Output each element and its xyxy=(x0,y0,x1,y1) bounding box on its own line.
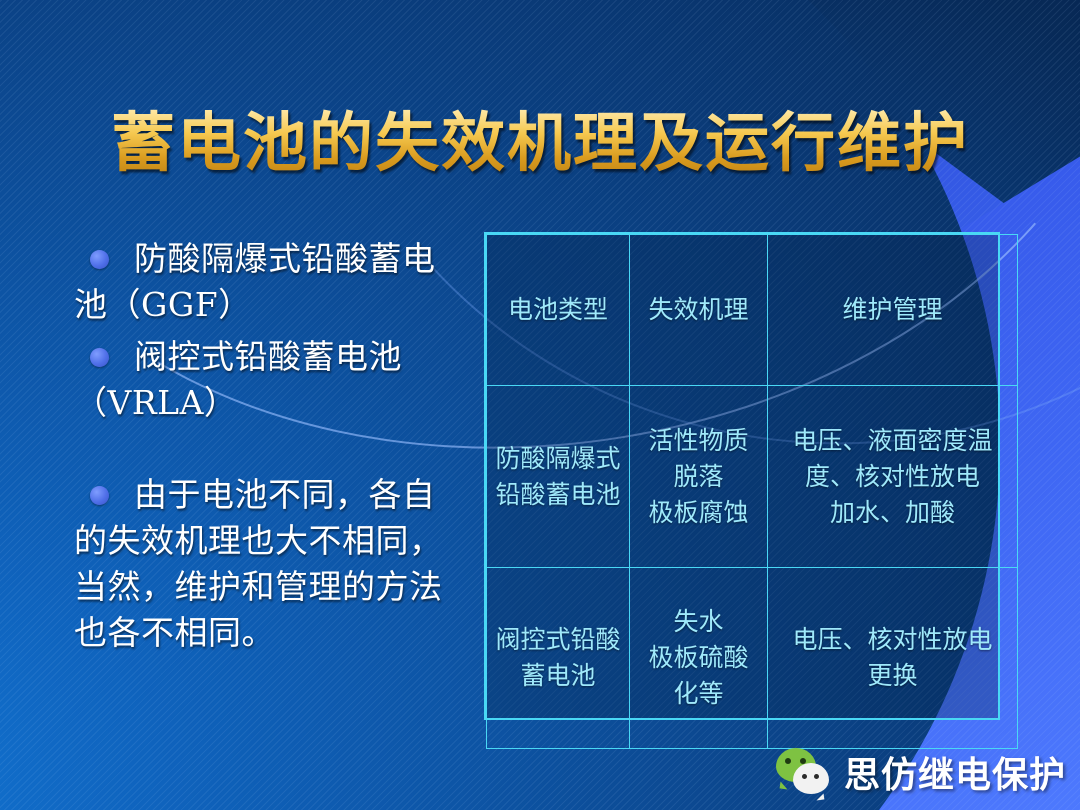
table-row: 防酸隔爆式铅酸蓄电池 活性物质 脱落 极板腐蚀 电压、液面密度温 度、核对性放电… xyxy=(487,386,1018,568)
cell-failure-mechanism-2: 失水 极板硫酸 化等 xyxy=(630,568,768,749)
bullet-item-1: 防酸隔爆式铅酸蓄电池（GGF） xyxy=(60,236,460,328)
table-header-failure-mechanism: 失效机理 xyxy=(630,235,768,386)
bullet-dot-icon xyxy=(90,486,109,505)
eye xyxy=(802,774,807,779)
cell-failure-mechanism-1: 活性物质 脱落 极板腐蚀 xyxy=(630,386,768,568)
cell-line: 活性物质 xyxy=(632,423,765,459)
cell-line: 化等 xyxy=(632,676,765,712)
table-row: 阀控式铅酸蓄电池 失水 极板硫酸 化等 电压、核对性放电 更换 xyxy=(487,568,1018,749)
cell-line: 更换 xyxy=(770,658,1015,694)
wechat-bubble-white xyxy=(793,763,829,794)
cell-line: 脱落 xyxy=(632,459,765,495)
cell-line: 度、核对性放电 xyxy=(770,459,1015,495)
failure-mechanism-table: 电池类型 失效机理 维护管理 防酸隔爆式铅酸蓄电池 活性物质 脱落 极板腐蚀 电… xyxy=(484,232,1000,720)
watermark: 思仿继电保护 xyxy=(776,746,1066,798)
cell-line: 加水、加酸 xyxy=(770,495,1015,531)
bullet-item-3: 由于电池不同，各自的失效机理也大不相同，当然，维护和管理的方法也各不相同。 xyxy=(60,472,460,656)
cell-line: 电压、核对性放电 xyxy=(770,622,1015,658)
cell-line: 极板腐蚀 xyxy=(632,495,765,531)
cell-maintenance-2: 电压、核对性放电 更换 xyxy=(768,568,1018,749)
slide-canvas: 蓄电池的失效机理及运行维护 防酸隔爆式铅酸蓄电池（GGF） 阀控式铅酸蓄电池（V… xyxy=(0,0,1080,810)
cell-battery-type-2: 阀控式铅酸蓄电池 xyxy=(487,568,630,749)
wechat-icon xyxy=(776,748,834,796)
bullet-list: 防酸隔爆式铅酸蓄电池（GGF） 阀控式铅酸蓄电池（VRLA） 由于电池不同，各自… xyxy=(60,236,460,662)
cell-line: 失水 xyxy=(632,604,765,640)
bullet-item-2-label: 阀控式铅酸蓄电池（VRLA） xyxy=(60,334,460,426)
watermark-label: 思仿继电保护 xyxy=(844,746,1066,798)
cell-maintenance-1: 电压、液面密度温 度、核对性放电 加水、加酸 xyxy=(768,386,1018,568)
slide-title: 蓄电池的失效机理及运行维护 xyxy=(0,92,1080,184)
bullet-item-2: 阀控式铅酸蓄电池（VRLA） xyxy=(60,334,460,426)
bullet-dot-icon xyxy=(90,348,109,367)
bullet-item-1-label: 防酸隔爆式铅酸蓄电池（GGF） xyxy=(60,236,460,328)
bullet-dot-icon xyxy=(90,250,109,269)
eye xyxy=(814,774,819,779)
table-header-maintenance: 维护管理 xyxy=(768,235,1018,386)
table-element: 电池类型 失效机理 维护管理 防酸隔爆式铅酸蓄电池 活性物质 脱落 极板腐蚀 电… xyxy=(486,234,1018,749)
eye xyxy=(785,758,791,764)
table-header-row: 电池类型 失效机理 维护管理 xyxy=(487,235,1018,386)
cell-line: 电压、液面密度温 xyxy=(770,423,1015,459)
cell-battery-type-1: 防酸隔爆式铅酸蓄电池 xyxy=(487,386,630,568)
cell-line: 极板硫酸 xyxy=(632,640,765,676)
bullet-item-3-label: 由于电池不同，各自的失效机理也大不相同，当然，维护和管理的方法也各不相同。 xyxy=(60,472,460,656)
table-header-battery-type: 电池类型 xyxy=(487,235,630,386)
